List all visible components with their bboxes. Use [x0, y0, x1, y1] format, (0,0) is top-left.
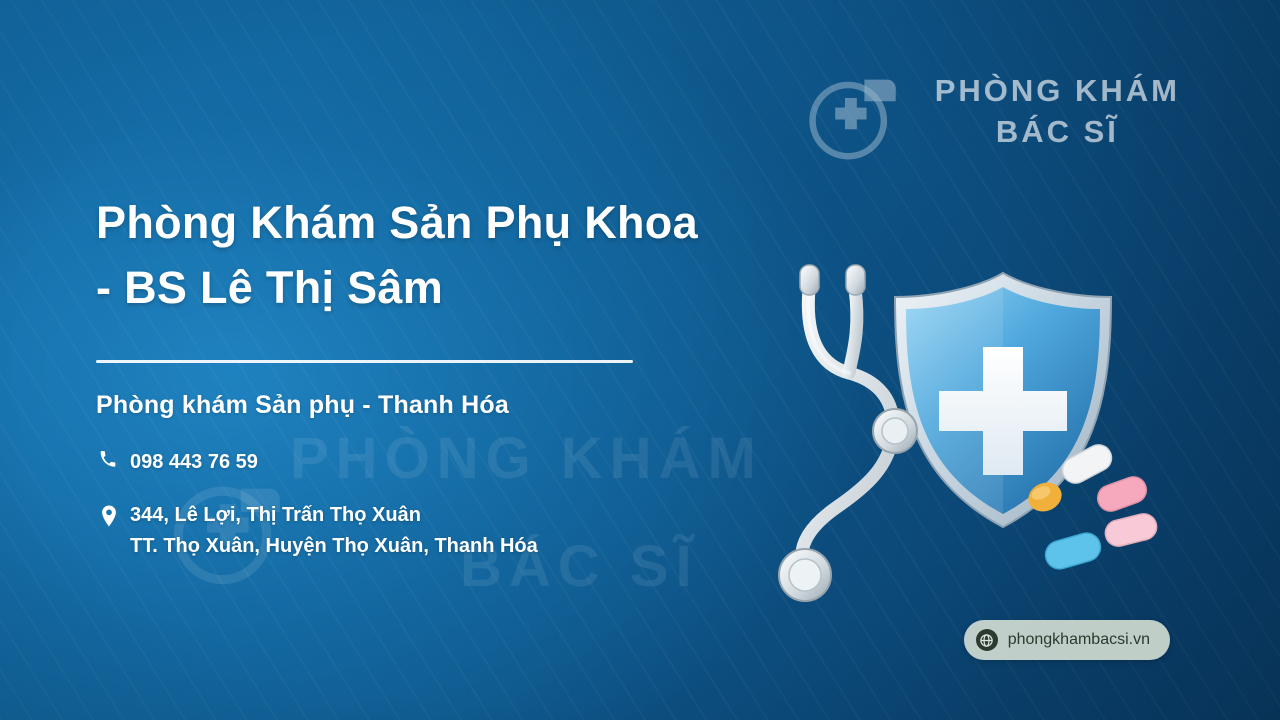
- globe-icon: [976, 629, 998, 651]
- phone-icon: [96, 447, 122, 473]
- address-line1: 344, Lê Lợi, Thị Trấn Thọ Xuân: [130, 504, 421, 526]
- clinic-subtitle: Phòng khám Sản phụ - Thanh Hóa: [96, 391, 796, 420]
- phone-number: 098 443 76 59: [130, 447, 258, 478]
- divider: [96, 360, 633, 363]
- brand-text: PHÒNG KHÁM BÁC SĨ: [935, 71, 1180, 153]
- stethoscope-shield-pills-illustration: [745, 245, 1185, 625]
- clinic-info-card: Phòng Khám Sản Phụ Khoa - BS Lê Thị Sâm …: [96, 190, 796, 562]
- medical-cross-shield-icon: [805, 58, 913, 166]
- address: 344, Lê Lợi, Thị Trấn Thọ Xuân TT. Thọ X…: [130, 500, 538, 562]
- shield-shape: [895, 273, 1111, 527]
- brand-line2: BÁC SĨ: [935, 112, 1180, 153]
- map-pin-icon: [96, 503, 122, 529]
- phone-row: 098 443 76 59: [96, 447, 796, 478]
- address-row: 344, Lê Lợi, Thị Trấn Thọ Xuân TT. Thọ X…: [96, 500, 796, 562]
- page-title-line1: Phòng Khám Sản Phụ Khoa: [96, 190, 796, 255]
- page-title-line2: - BS Lê Thị Sâm: [96, 255, 796, 320]
- website-pill[interactable]: phongkhambacsi.vn: [964, 620, 1170, 660]
- brand-line1: PHÒNG KHÁM: [935, 71, 1180, 112]
- page-title: Phòng Khám Sản Phụ Khoa - BS Lê Thị Sâm: [96, 190, 796, 321]
- address-line2: TT. Thọ Xuân, Huyện Thọ Xuân, Thanh Hóa: [130, 535, 538, 557]
- website-label: phongkhambacsi.vn: [1008, 631, 1150, 649]
- brand-logo: PHÒNG KHÁM BÁC SĨ: [805, 58, 1180, 166]
